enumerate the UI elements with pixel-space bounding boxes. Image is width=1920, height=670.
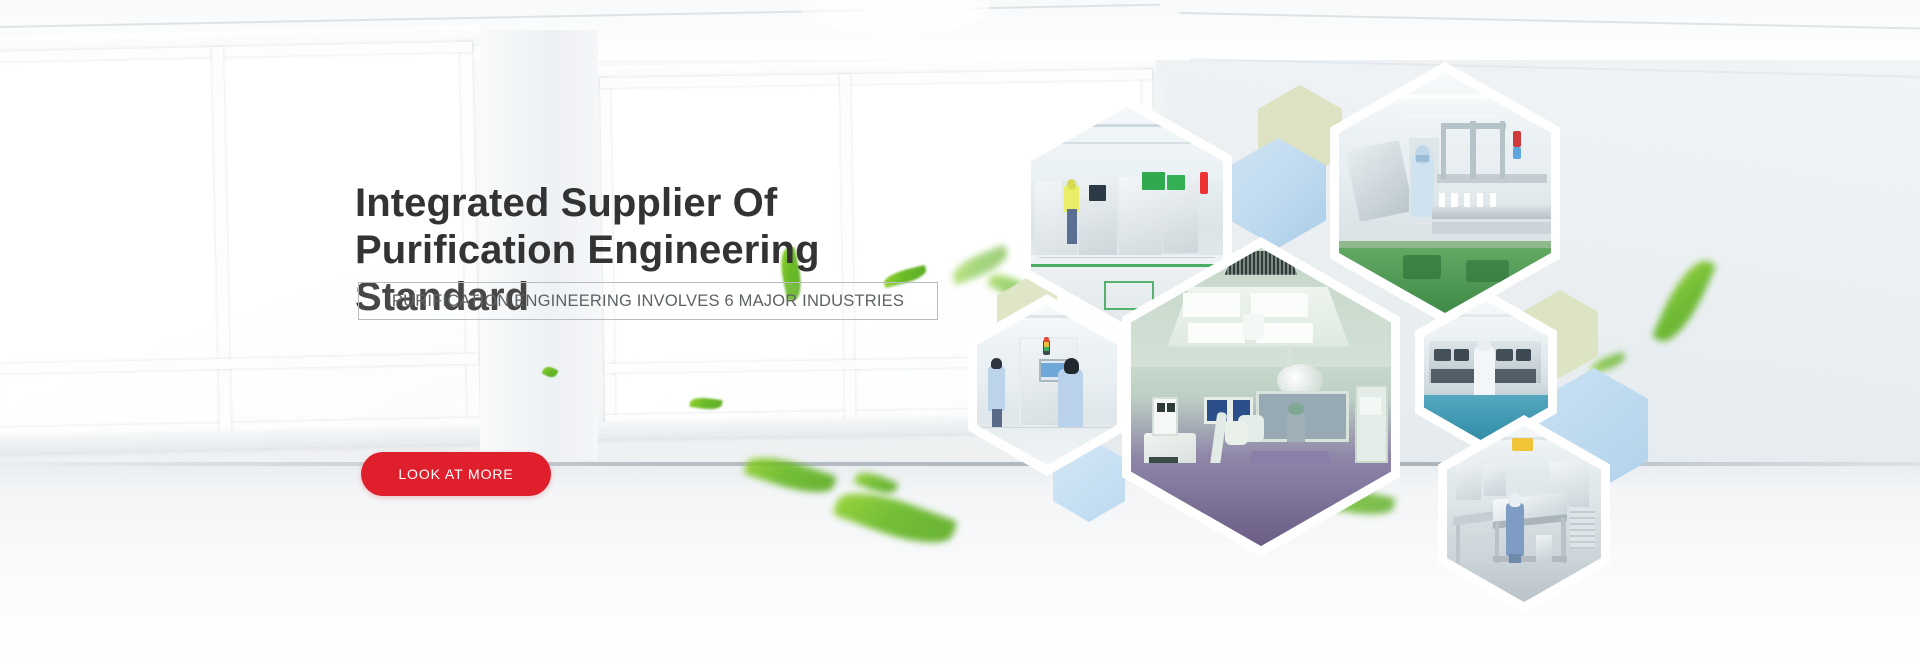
subtitle-text: PURIFICATION ENGINEERING INVOLVES 6 MAJO…	[392, 292, 904, 311]
subtitle-box: PURIFICATION ENGINEERING INVOLVES 6 MAJO…	[358, 282, 938, 320]
look-at-more-button[interactable]: LOOK AT MORE	[361, 452, 551, 496]
cleanroom-floor	[0, 462, 1920, 670]
hero-banner: Integrated Supplier Of Purification Engi…	[0, 0, 1920, 670]
